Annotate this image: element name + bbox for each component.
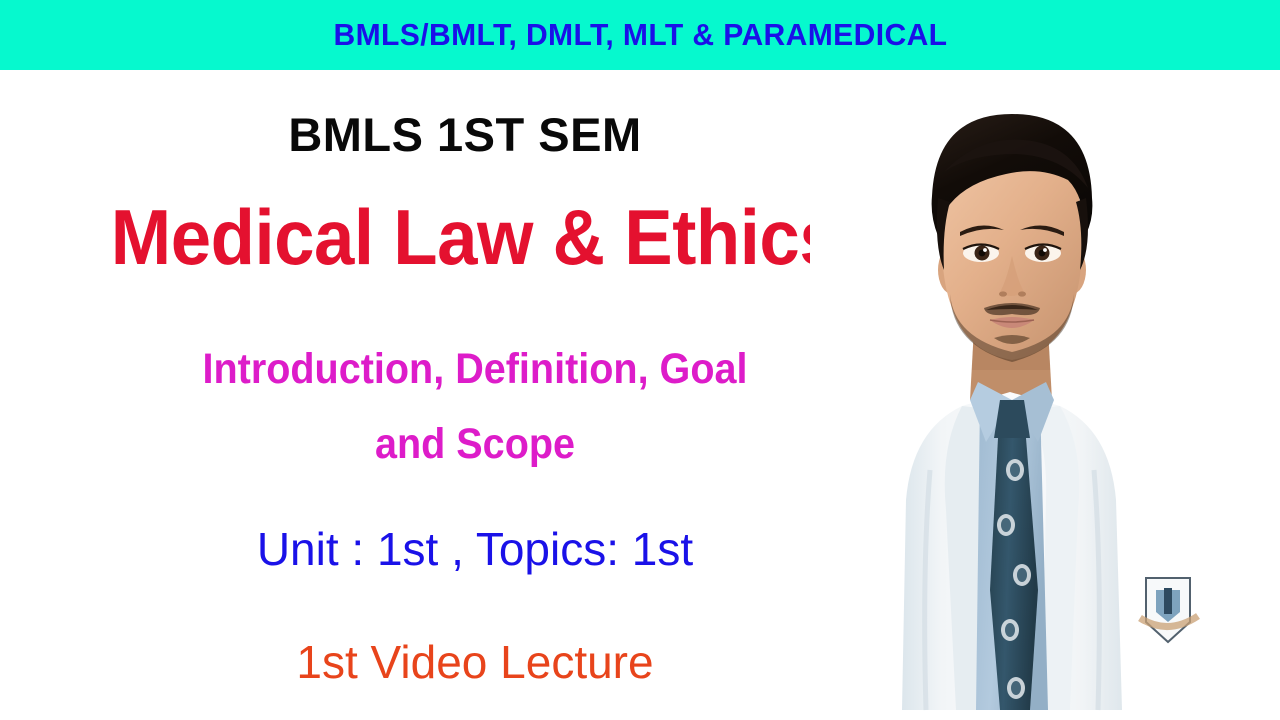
lecture-title-slide: BMLS/BMLT, DMLT, MLT & PARAMEDICAL BMLS … <box>0 0 1280 720</box>
eye-right <box>1025 244 1061 262</box>
presenter-photo <box>810 70 1280 720</box>
presenter-illustration <box>810 70 1280 720</box>
nostril-left <box>999 291 1007 296</box>
unit-topic-label: Unit : 1st , Topics: 1st <box>0 522 950 576</box>
eye-left <box>963 244 999 262</box>
subtitle-line-2: and Scope <box>38 420 912 469</box>
slide-text-column: BMLS 1ST SEM Medical Law & Ethics Introd… <box>0 70 950 720</box>
nostril-right <box>1018 291 1026 296</box>
page-title: Medical Law & Ethics <box>33 192 917 283</box>
banner-title-text: BMLS/BMLT, DMLT, MLT & PARAMEDICAL <box>333 17 947 53</box>
lecture-number-label: 1st Video Lecture <box>0 635 950 689</box>
channel-banner: BMLS/BMLT, DMLT, MLT & PARAMEDICAL <box>0 0 1280 70</box>
subtitle-line-1: Introduction, Definition, Goal <box>38 345 912 394</box>
course-semester-label: BMLS 1ST SEM <box>0 107 950 162</box>
tie-knot <box>994 400 1030 438</box>
